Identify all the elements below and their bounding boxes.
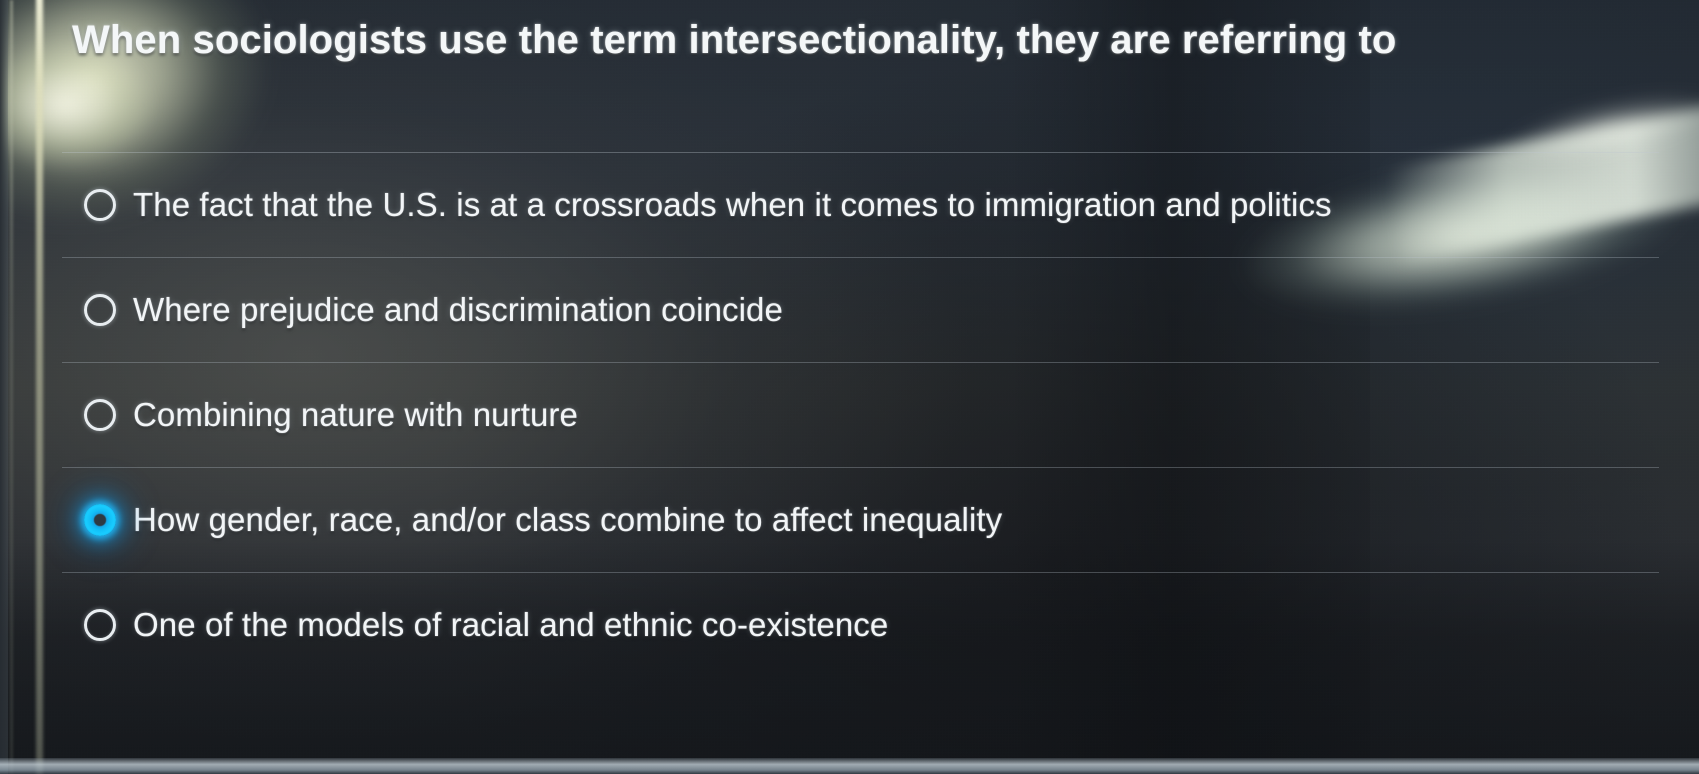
question-text: When sociologists use the term intersect… [72, 18, 1492, 63]
radio-button-icon-2[interactable] [84, 294, 116, 326]
answer-option-label-5: One of the models of racial and ethnic c… [133, 606, 888, 644]
radio-button-icon-1[interactable] [84, 189, 116, 221]
answer-option-5[interactable]: One of the models of racial and ethnic c… [62, 572, 1659, 677]
screen-photo: When sociologists use the term intersect… [0, 0, 1699, 774]
answer-option-label-2: Where prejudice and discrimination coinc… [133, 291, 783, 329]
answer-option-1[interactable]: The fact that the U.S. is at a crossroad… [62, 152, 1659, 257]
answer-option-label-4: How gender, race, and/or class combine t… [133, 501, 1002, 539]
answer-options-list: The fact that the U.S. is at a crossroad… [62, 152, 1659, 677]
radio-button-icon-5[interactable] [84, 609, 116, 641]
radio-button-icon-4-selected[interactable] [84, 504, 116, 536]
answer-option-2[interactable]: Where prejudice and discrimination coinc… [62, 257, 1659, 362]
answer-option-3[interactable]: Combining nature with nurture [62, 362, 1659, 467]
answer-option-label-3: Combining nature with nurture [133, 396, 578, 434]
radio-button-icon-3[interactable] [84, 399, 116, 431]
answer-option-label-1: The fact that the U.S. is at a crossroad… [133, 186, 1332, 224]
quiz-content: When sociologists use the term intersect… [0, 0, 1699, 774]
answer-option-4[interactable]: How gender, race, and/or class combine t… [62, 467, 1659, 572]
